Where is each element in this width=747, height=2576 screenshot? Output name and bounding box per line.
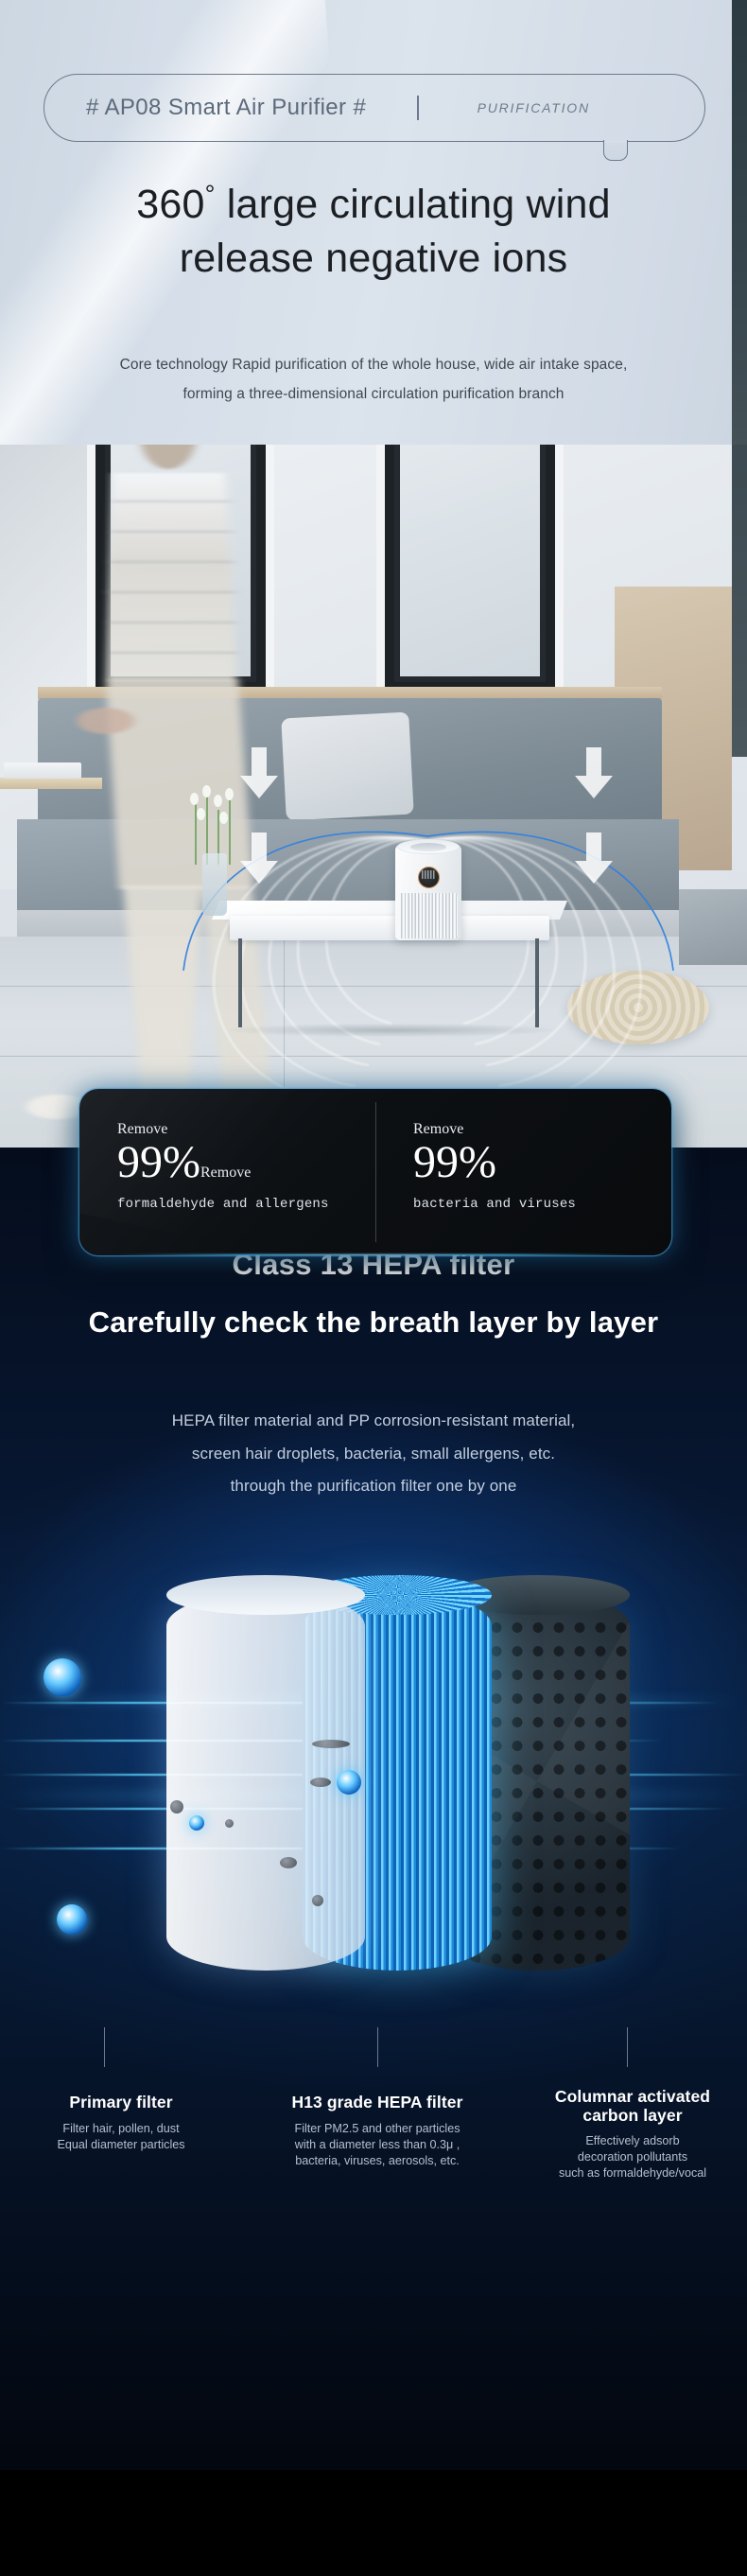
hero-section: # AP08 Smart Air Purifier # PURIFICATION… [0,0,747,1148]
hepa-desc-l3: bacteria, viruses, aerosols, etc. [295,2154,460,2167]
table-shadow [227,1024,558,1037]
filter-label-hepa-title: H13 grade HEPA filter [244,2094,511,2112]
carbon-desc-l3: such as formaldehyde/vocal [559,2166,706,2180]
label-connector-1 [104,2027,105,2067]
page-footer-spacer [0,2470,747,2576]
round-floor-cushion [567,971,709,1044]
glass-vase [202,853,227,916]
carbon-title-l2: carbon layer [582,2106,682,2125]
stat-1-value: 99% [117,1140,200,1185]
banner-notch-mask [604,138,627,143]
room-right-wall [732,445,747,757]
stat-1-eyebrow: Remove [117,1121,375,1138]
air-purifier-product [395,834,461,940]
stat-2-caption: bacteria and viruses [413,1197,671,1212]
stat-2-eyebrow: Remove [413,1121,671,1138]
filter-label-carbon: Columnar activated carbon layer Effectiv… [518,2088,747,2182]
hepa-desc-l1: Filter PM2.5 and other particles [295,2122,460,2135]
banner-notch [603,140,628,161]
product-detail-page: # AP08 Smart Air Purifier # PURIFICATION… [0,0,747,2576]
headline-line2: release negative ions [180,236,568,281]
filter-label-carbon-title: Columnar activated carbon layer [518,2088,747,2125]
carbon-title-l1: Columnar activated [555,2087,710,2106]
filter-copy-line1: HEPA filter material and PP corrosion-re… [172,1411,575,1429]
primary-desc-l1: Filter hair, pollen, dust [62,2122,179,2135]
filter-label-primary-title: Primary filter [17,2094,225,2112]
stat-formaldehyde: Remove 99%Remove formaldehyde and allerg… [79,1089,375,1255]
sofa-seat [17,819,679,914]
hero-subcopy-line2: forming a three-dimensional circulation … [182,386,564,402]
stat-1-inline-suffix: Remove [200,1165,251,1181]
filter-label-primary-desc: Filter hair, pollen, dust Equal diameter… [17,2121,225,2153]
label-connector-2 [377,2027,378,2067]
banner-subtitle: PURIFICATION [478,100,590,115]
window-right [376,445,564,700]
filter-section-copy: HEPA filter material and PP corrosion-re… [0,1405,747,1503]
purifier-top-outlet [410,843,446,851]
hepa-filter-section: Class 13 HEPA filter Carefully check the… [0,1148,747,2470]
stat-bacteria: Remove 99% bacteria and viruses [375,1089,671,1255]
hero-subcopy-line1: Core technology Rapid purification of th… [120,357,628,373]
negative-ion-particle [337,1770,361,1795]
dust-particle [312,1740,350,1748]
table-leg-right [535,938,539,1027]
page-title: 360° large circulating wind release nega… [0,178,747,286]
stat-1-caption: formaldehyde and allergens [117,1197,375,1212]
filter-label-primary: Primary filter Filter hair, pollen, dust… [17,2094,225,2153]
primary-desc-l2: Equal diameter particles [57,2138,184,2151]
filter-section-subtitle: Carefully check the breath layer by laye… [0,1306,747,1340]
hero-subcopy: Core technology Rapid purification of th… [0,350,747,409]
books-stack [4,762,81,779]
filter-layers-illustration [0,1554,747,2046]
carbon-desc-l2: decoration pollutants [578,2150,687,2164]
corner-stool [679,889,747,965]
filter-label-carbon-desc: Effectively adsorb decoration pollutants… [518,2133,747,2182]
primary-filter-layer [166,1592,365,1971]
purifier-intake-grill [399,893,458,938]
purifier-display-readout [422,870,436,879]
side-table [0,778,102,789]
room-scene-photo [0,445,747,1148]
filter-label-hepa: H13 grade HEPA filter Filter PM2.5 and o… [244,2094,511,2169]
filter-label-hepa-desc: Filter PM2.5 and other particles with a … [244,2121,511,2169]
hepa-desc-l2: with a diameter less than 0.3μ , [295,2138,460,2151]
headline-360: 360 [136,182,204,227]
product-name-banner: # AP08 Smart Air Purifier # PURIFICATION [43,74,705,142]
filter-copy-line2: screen hair droplets, bacteria, small al… [192,1445,555,1463]
table-leg-left [238,938,242,1027]
headline-line1-rest: large circulating wind [216,182,611,227]
label-connector-3 [627,2027,628,2067]
negative-ion-particle [57,1904,87,1935]
dust-particle [170,1800,183,1814]
dust-particle [312,1895,323,1906]
sofa-cushion [281,712,413,821]
primary-filter-top [166,1575,365,1615]
carbon-desc-l1: Effectively adsorb [585,2134,679,2147]
stat-2-value: 99% [413,1140,496,1185]
dust-particle [225,1819,234,1828]
filter-copy-line3: through the purification filter one by o… [231,1477,517,1495]
negative-ion-particle [43,1658,81,1696]
coffee-table [230,916,549,940]
dust-particle [280,1857,297,1868]
banner-divider [417,96,418,120]
degree-symbol: ° [205,181,216,209]
negative-ion-particle [189,1815,204,1831]
window-left [87,445,274,700]
banner-title: # AP08 Smart Air Purifier # [86,95,366,121]
removal-stats-card: Remove 99%Remove formaldehyde and allerg… [79,1089,671,1255]
dust-particle [310,1778,331,1787]
